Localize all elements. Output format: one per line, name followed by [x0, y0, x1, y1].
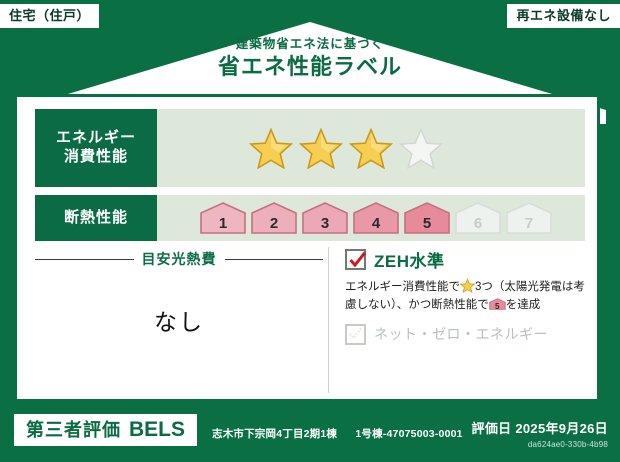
- house-icon-level-4: 4: [352, 202, 400, 234]
- row-energy-performance: エネルギー 消費性能: [35, 109, 585, 187]
- insulation-level-scale: 1 2 3 4 5: [199, 202, 553, 234]
- house-icon-level-3: 3: [301, 202, 349, 234]
- bels-energy-label: 住宅（住戸） 再エネ設備なし 建築物省エネ法に基づく 省エネ性能ラベル エネルギ…: [0, 0, 620, 462]
- label-footer: 第三者評価 BELS 志木市下宗岡4丁目2期1棟 1号棟-47075003-00…: [0, 406, 620, 462]
- row-insulation-performance: 断熱性能 1 2 3: [35, 195, 585, 241]
- house-icon-level-1: 1: [199, 202, 247, 234]
- star-icon-filled-3: [349, 126, 393, 170]
- zeh-description: エネルギー消費性能で3つ（太陽光発電は考慮しない）、かつ断熱性能で5を達成: [345, 278, 591, 315]
- evaluation-info: 評価日 2025年9月26日 da624ae0-330b-4b98: [472, 418, 608, 449]
- zeh-header: ZEH水準: [345, 247, 591, 272]
- house-icon-inline: 5: [489, 297, 506, 311]
- evaluation-date-label: 評価日: [472, 421, 512, 436]
- zeh-desc-part1: エネルギー消費性能で: [345, 281, 460, 293]
- property-address-line: 志木市下宗岡4丁目2期1棟 1号棟-47075003-0001: [212, 426, 463, 441]
- house-level-label-7: 7: [505, 216, 553, 231]
- column-divider: [328, 247, 329, 393]
- star-icon-filled-2: [299, 126, 343, 170]
- utility-cost-title-row: 目安光熱費: [35, 249, 323, 269]
- badge-renewable-equipment: 再エネ設備なし: [507, 4, 620, 28]
- bels-name: BELS: [129, 419, 185, 440]
- row-insulation-value: 1 2 3 4 5: [157, 195, 585, 241]
- building-number: 1号棟-47075003-0001: [355, 428, 462, 440]
- row-energy-label-line1: エネルギー: [56, 129, 136, 148]
- bels-logo: 第三者評価 BELS: [14, 414, 197, 446]
- house-level-label-4: 4: [352, 216, 400, 231]
- row-insulation-label: 断熱性能: [35, 195, 157, 241]
- house-level-label-5: 5: [403, 216, 451, 231]
- row-insulation-label-line1: 断熱性能: [64, 209, 128, 228]
- badge-housing-type: 住宅（住戸）: [0, 4, 99, 28]
- utility-cost-title: 目安光熱費: [142, 249, 217, 269]
- rule-left: [35, 259, 134, 260]
- rule-right: [225, 259, 324, 260]
- house-level-label-1: 1: [199, 216, 247, 231]
- row-energy-value: [157, 109, 585, 187]
- check-icon-disabled: [348, 327, 363, 342]
- row-energy-label-line2: 消費性能: [64, 148, 128, 167]
- house-icon-level-5: 5: [403, 202, 451, 234]
- star-rating: [249, 126, 443, 170]
- property-address: 志木市下宗岡4丁目2期1棟: [212, 428, 337, 440]
- bels-prefix: 第三者評価: [26, 421, 121, 439]
- evaluation-date-line: 評価日 2025年9月26日: [472, 418, 608, 437]
- house-icon-level-7: 7: [505, 202, 553, 234]
- star-icon-empty-4: [399, 126, 443, 170]
- house-level-label-2: 2: [250, 216, 298, 231]
- zeh-desc-part3: を達成: [506, 299, 541, 311]
- utility-cost-block: 目安光熱費 なし: [35, 249, 323, 389]
- check-icon: [348, 251, 367, 270]
- label-body-panel: エネルギー 消費性能: [14, 94, 600, 402]
- utility-cost-value: なし: [35, 303, 323, 337]
- house-level-label-3: 3: [301, 216, 349, 231]
- zeh-block: ZEH水準 エネルギー消費性能で3つ（太陽光発電は考慮しない）、かつ断熱性能で5…: [345, 247, 591, 345]
- zeh-desc-house-level: 5: [489, 303, 506, 311]
- star-icon-filled-1: [249, 126, 293, 170]
- house-icon-level-6: 6: [454, 202, 502, 234]
- zeh-desc-star-count: 3つ: [475, 281, 493, 293]
- net-zero-energy-row: ネット・ゼロ・エネルギー: [345, 324, 591, 345]
- checkbox-net-zero-energy[interactable]: [345, 324, 366, 345]
- row-energy-label: エネルギー 消費性能: [35, 109, 157, 187]
- evaluation-date-value: 2025年9月26日: [515, 421, 608, 436]
- evaluation-hash: da624ae0-330b-4b98: [472, 440, 608, 449]
- house-icon-level-2: 2: [250, 202, 298, 234]
- house-level-label-6: 6: [454, 216, 502, 231]
- zeh-title: ZEH水準: [374, 247, 445, 272]
- star-icon-inline: [460, 278, 475, 293]
- checkbox-zeh-checked[interactable]: [345, 249, 366, 270]
- net-zero-energy-label: ネット・ゼロ・エネルギー: [374, 324, 548, 344]
